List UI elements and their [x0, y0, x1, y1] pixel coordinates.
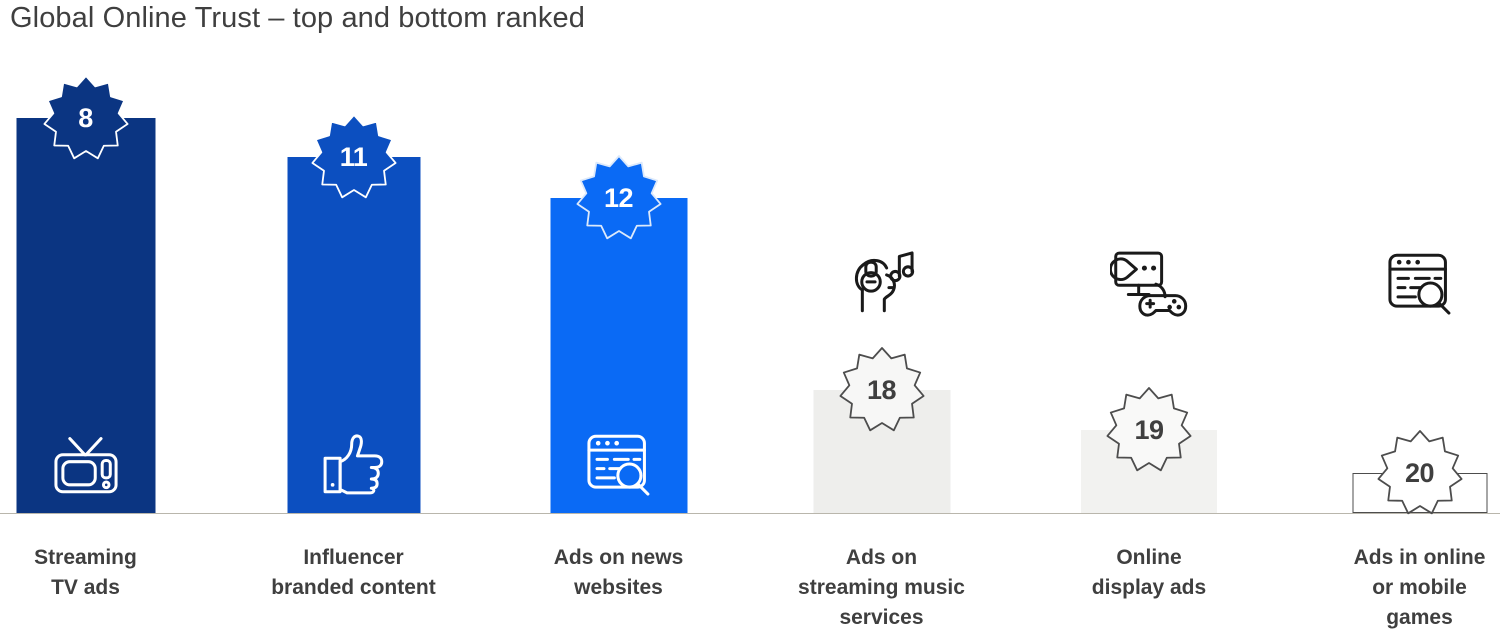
- category-label: Influencerbranded content: [239, 543, 469, 603]
- tv-icon: [49, 427, 123, 501]
- rank-number: 12: [576, 155, 662, 241]
- chart-container: Global Online Trust – top and bottom ran…: [0, 0, 1500, 640]
- category-label-line: games: [1305, 603, 1500, 633]
- category-label: Ads on newswebsites: [504, 543, 734, 603]
- category-label-line: Streaming: [0, 543, 201, 573]
- rank-badge: 12: [576, 155, 662, 241]
- rank-badge: 18: [839, 347, 925, 433]
- bar-group-1: 8StreamingTV ads: [0, 0, 211, 640]
- rank-number: 8: [43, 75, 129, 161]
- category-label: Ads in onlineor mobilegames: [1305, 543, 1500, 634]
- bar-group-3: 12Ads on newswebsites: [494, 0, 744, 640]
- rank-number: 20: [1377, 430, 1463, 516]
- category-label-line: Ads in online: [1305, 543, 1500, 573]
- rank-badge: 19: [1106, 387, 1192, 473]
- bar-group-2: 11Influencerbranded content: [229, 0, 479, 640]
- rank-badge: 11: [311, 114, 397, 200]
- bar-group-4: 18Ads onstreaming musicservices: [757, 0, 1007, 640]
- category-label-line: Ads on: [767, 543, 997, 573]
- category-label: StreamingTV ads: [0, 543, 201, 603]
- browser-search-icon: [1383, 246, 1457, 320]
- rank-badge: 8: [43, 75, 129, 161]
- category-label-line: Online: [1034, 543, 1264, 573]
- category-label: Ads onstreaming musicservices: [767, 543, 997, 634]
- category-label: Onlinedisplay ads: [1034, 543, 1264, 603]
- game-controller-monitor-icon: [1110, 246, 1188, 320]
- category-label-line: websites: [504, 573, 734, 603]
- category-label-line: display ads: [1034, 573, 1264, 603]
- bar-group-5: 19Onlinedisplay ads: [1024, 0, 1274, 640]
- category-label-line: TV ads: [0, 573, 201, 603]
- category-label-line: or mobile: [1305, 573, 1500, 603]
- headphones-music-icon: [845, 246, 919, 320]
- rank-number: 11: [311, 114, 397, 200]
- thumbs-up-icon: [317, 427, 391, 501]
- bar-group-6: 20Ads in onlineor mobilegames: [1295, 0, 1500, 640]
- category-label-line: services: [767, 603, 997, 633]
- category-label-line: Ads on news: [504, 543, 734, 573]
- axis-baseline: [0, 513, 1500, 514]
- category-label-line: Influencer: [239, 543, 469, 573]
- browser-search-icon: [582, 427, 656, 501]
- rank-badge: 20: [1377, 430, 1463, 516]
- rank-number: 19: [1106, 387, 1192, 473]
- rank-number: 18: [839, 347, 925, 433]
- category-label-line: streaming music: [767, 573, 997, 603]
- category-label-line: branded content: [239, 573, 469, 603]
